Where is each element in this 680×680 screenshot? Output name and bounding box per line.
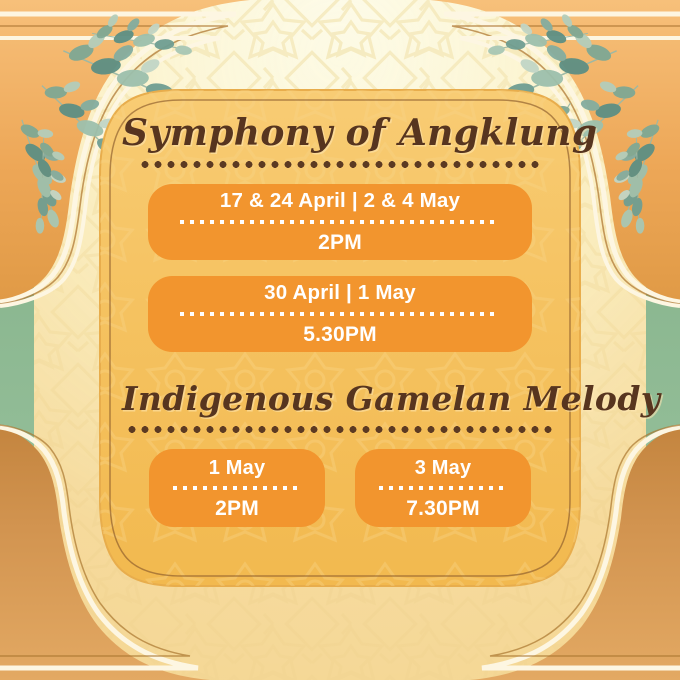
schedule-card[interactable]: 30 April | 1 May 5.30PM <box>148 276 532 352</box>
card-separator <box>173 486 301 490</box>
card-dates: 17 & 24 April | 2 & 4 May <box>148 190 532 213</box>
card-separator <box>180 220 500 224</box>
section-title-symphony: Symphony of Angklung <box>122 114 558 152</box>
card-time: 7.30PM <box>355 497 531 520</box>
section-title-gamelan: Indigenous Gamelan Melody <box>122 382 558 417</box>
card-time: 2PM <box>148 231 532 254</box>
card-separator <box>379 486 507 490</box>
schedule-card[interactable]: 1 May 2PM <box>149 449 325 527</box>
panel-content-wrap: Symphony of Angklung 17 & 24 April | 2 &… <box>88 88 592 580</box>
poster-canvas: Symphony of Angklung 17 & 24 April | 2 &… <box>0 0 680 680</box>
section-gamelan: Indigenous Gamelan Melody 1 May 2PM 3 Ma… <box>122 382 558 527</box>
title-dot-rule <box>124 426 556 433</box>
schedule-card[interactable]: 3 May 7.30PM <box>355 449 531 527</box>
title-dot-rule <box>136 161 544 168</box>
card-time: 2PM <box>149 497 325 520</box>
card-dates: 30 April | 1 May <box>148 282 532 305</box>
section-symphony: Symphony of Angklung 17 & 24 April | 2 &… <box>122 114 558 352</box>
card-separator <box>180 312 500 316</box>
card-dates: 1 May <box>149 457 325 479</box>
card-time: 5.30PM <box>148 323 532 346</box>
card-dates: 3 May <box>355 457 531 479</box>
schedule-card[interactable]: 17 & 24 April | 2 & 4 May 2PM <box>148 184 532 260</box>
